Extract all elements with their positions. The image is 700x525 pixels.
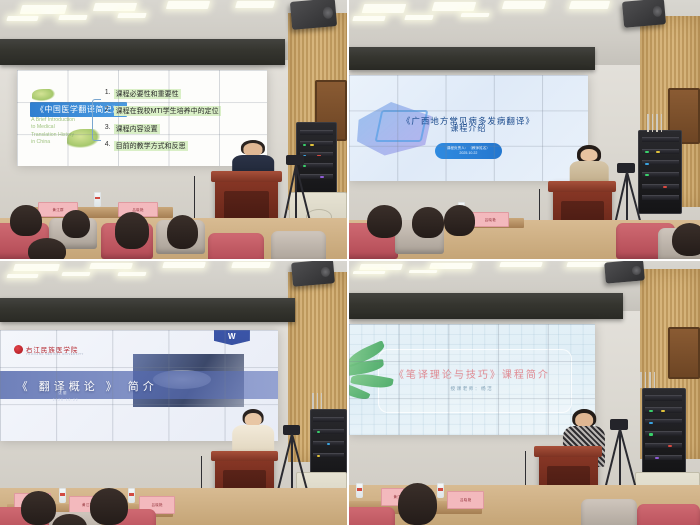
rack-unit [313, 417, 344, 422]
antenna [661, 114, 662, 132]
list-item: 3. 课程内容设置 [105, 124, 160, 134]
list-item-label: 课程内容设置 [114, 124, 160, 134]
water-bottle [128, 488, 135, 503]
av-equipment-rack [642, 388, 686, 474]
audience-head [28, 238, 66, 261]
auditorium-seat [637, 504, 700, 525]
auditorium-seat [349, 507, 395, 525]
antenna [647, 114, 648, 132]
ceiling-light [6, 274, 38, 278]
nameplate-label: 吕晓艳 [485, 217, 496, 222]
water-bottle [356, 483, 363, 498]
ceiling-light [499, 262, 543, 267]
antenna [645, 372, 646, 388]
slide-subtitle-en: A Brief Introduction to Medical Translat… [31, 117, 75, 147]
list-item-number: 2. [105, 106, 111, 113]
antenna [652, 114, 653, 132]
ceiling-light [89, 263, 132, 269]
audience-head [167, 215, 198, 249]
nameplate-label: 黄江群 [53, 207, 64, 212]
wps-watermark-icon: W [214, 330, 250, 346]
ceiling-speaker-icon [604, 261, 644, 284]
ceiling-light [117, 13, 146, 18]
slide-title-line2: 课程介绍 [349, 123, 588, 134]
ceiling-light [569, 1, 610, 9]
list-item-label: 课程在我校MTI学生培养中的定位 [114, 106, 221, 116]
auditorium-seat [581, 499, 637, 525]
antenna [317, 393, 318, 409]
water-bottle [437, 483, 444, 498]
audience-head [115, 212, 150, 248]
list-item-label: 课程必要性和重要性 [114, 89, 181, 99]
slide-presenter-badge: 课程负责人：（教师姓名） 2025.10.22 [435, 143, 502, 159]
ceiling-light [6, 16, 39, 21]
ceiling-light [408, 270, 437, 273]
podium-top [211, 171, 282, 182]
rack-unit [642, 137, 679, 142]
rack-unit [300, 130, 334, 135]
audience-head [21, 491, 56, 525]
led-video-wall: 《广西地方常见病多发病翻译》 课程介绍 课程负责人：（教师姓名） 2025.10… [349, 75, 588, 181]
panel-medical-translation-history[interactable]: 《中国医学翻译简史》 A Brief Introduction to Medic… [0, 0, 349, 261]
antenna [312, 393, 313, 409]
slide-title: 《笔译理论与技巧》课程简介 [349, 366, 595, 381]
auditorium-seat [208, 233, 264, 261]
rack-unit [645, 395, 682, 400]
list-item: 4. 目前的教学方式和反思 [105, 141, 188, 151]
audience-head [412, 207, 444, 238]
auditorium-seat [271, 231, 327, 262]
leaf-decoration-icon [32, 89, 54, 100]
nameplate-label: 吕晓艳 [151, 502, 162, 507]
water-bottle [59, 488, 66, 503]
ceiling-light [404, 15, 434, 20]
slide-instructor: 授课老师：杨洁 [349, 386, 595, 392]
presenter-head [244, 143, 263, 155]
panel-guangxi-common-diseases[interactable]: 《广西地方常见病多发病翻译》 课程介绍 课程负责人：（教师姓名） 2025.10… [349, 0, 700, 261]
slide-medical-translation-history: 《中国医学翻译简史》 A Brief Introduction to Medic… [17, 70, 267, 166]
status-led [656, 151, 660, 153]
water-bottle [94, 192, 101, 207]
ceiling-speaker-icon [291, 261, 335, 287]
audience-head [90, 488, 128, 525]
rack-unit [642, 184, 679, 189]
antenna-array [647, 114, 675, 132]
ceiling-light [20, 5, 68, 14]
audience-head [672, 223, 700, 257]
list-item-number: 3. [105, 124, 111, 131]
screen-valance [349, 293, 623, 319]
nameplate-label: 吕晓艳 [460, 497, 471, 502]
audience-head [398, 483, 437, 525]
ceiling-light [235, 1, 275, 8]
presenter-head [581, 149, 598, 161]
photo-collage: 《中国医学翻译简史》 A Brief Introduction to Medic… [0, 0, 700, 525]
slide-byline: 张丽 [58, 391, 67, 396]
logo-mark-icon [14, 345, 23, 354]
screen-valance [349, 47, 595, 70]
slide-date: 2025.10.22 [53, 398, 79, 402]
watermark-letter: W [228, 332, 236, 341]
antenna [656, 114, 657, 132]
status-led [317, 431, 320, 433]
status-led [649, 410, 653, 412]
ceiling-light [62, 272, 91, 276]
screen-valance [0, 39, 285, 65]
av-equipment-rack [638, 130, 682, 215]
university-name-en: YOUJIANG MEDICAL UNIVERSITY [26, 353, 84, 356]
status-led [649, 433, 653, 435]
antenna [321, 393, 322, 409]
ceiling-speaker-icon [290, 0, 337, 30]
presenter-head [575, 413, 593, 427]
ceiling-light [232, 262, 272, 268]
ceiling-light [352, 16, 385, 21]
status-led [310, 144, 313, 146]
ceiling-light [58, 15, 87, 20]
list-item-label: 目前的教学方式和反思 [114, 141, 188, 151]
screen-valance [0, 298, 295, 322]
led-video-wall: 《笔译理论与技巧》课程简介 授课老师：杨洁 [349, 324, 595, 435]
nameplate: 吕晓艳 [472, 212, 509, 227]
status-led [320, 176, 323, 178]
ceiling-light [429, 263, 473, 269]
slide-title: 《 翻译概论 》 简介 [17, 378, 158, 394]
status-led [303, 144, 306, 146]
slide-translation-theory-skills: 《笔译理论与技巧》课程简介 授课老师：杨洁 [349, 324, 595, 435]
status-led [317, 455, 320, 457]
antenna [640, 372, 641, 388]
nameplate: 吕晓艳 [447, 491, 484, 509]
antenna-array [312, 393, 336, 409]
ceiling-light [93, 3, 137, 11]
ceiling-speaker-icon [622, 0, 666, 28]
led-video-wall: 《中国医学翻译简史》 A Brief Introduction to Medic… [17, 70, 267, 166]
panel-translation-overview[interactable]: 右江民族医学院 YOUJIANG MEDICAL UNIVERSITY 《 翻译… [0, 261, 349, 525]
status-led [649, 422, 653, 424]
audience-head [444, 205, 476, 236]
antenna [649, 372, 650, 388]
antenna [654, 372, 655, 388]
ceiling-light [162, 262, 205, 268]
panel-translation-theory-skills[interactable]: 《笔译理论与技巧》课程简介 授课老师：杨洁 [349, 261, 700, 525]
status-led [645, 151, 649, 153]
nameplate-label: 吕晓艳 [132, 207, 143, 212]
list-item: 1. 课程必要性和重要性 [105, 89, 181, 99]
ceiling-light [461, 13, 490, 17]
rack-unit [645, 455, 682, 460]
audience-head [10, 205, 41, 236]
status-led [663, 186, 667, 188]
status-led [645, 163, 649, 165]
status-led [661, 410, 665, 412]
list-item-number: 1. [105, 89, 111, 96]
ceiling-light [117, 272, 146, 276]
side-door [668, 327, 700, 379]
rack-unit [645, 443, 682, 448]
ceiling-light [359, 264, 403, 270]
ceiling-light [165, 1, 209, 9]
ceiling-light [566, 262, 606, 267]
ceiling-light [13, 264, 60, 271]
ceiling-light [352, 271, 385, 274]
rack-unit [642, 195, 679, 200]
list-item: 2. 课程在我校MTI学生培养中的定位 [105, 106, 221, 116]
list-item-number: 4. [105, 141, 111, 148]
university-logo: 右江民族医学院 YOUJIANG MEDICAL UNIVERSITY [14, 344, 79, 354]
ceiling-light [362, 4, 407, 13]
ceiling-light [432, 2, 477, 11]
brace-connector [92, 99, 100, 141]
audience-head [62, 210, 90, 238]
ceiling-light [502, 1, 546, 9]
audience-head [367, 205, 402, 239]
antenna-array [640, 372, 668, 388]
slide-guangxi-common-diseases: 《广西地方常见病多发病翻译》 课程介绍 课程负责人：（教师姓名） 2025.10… [349, 75, 588, 181]
